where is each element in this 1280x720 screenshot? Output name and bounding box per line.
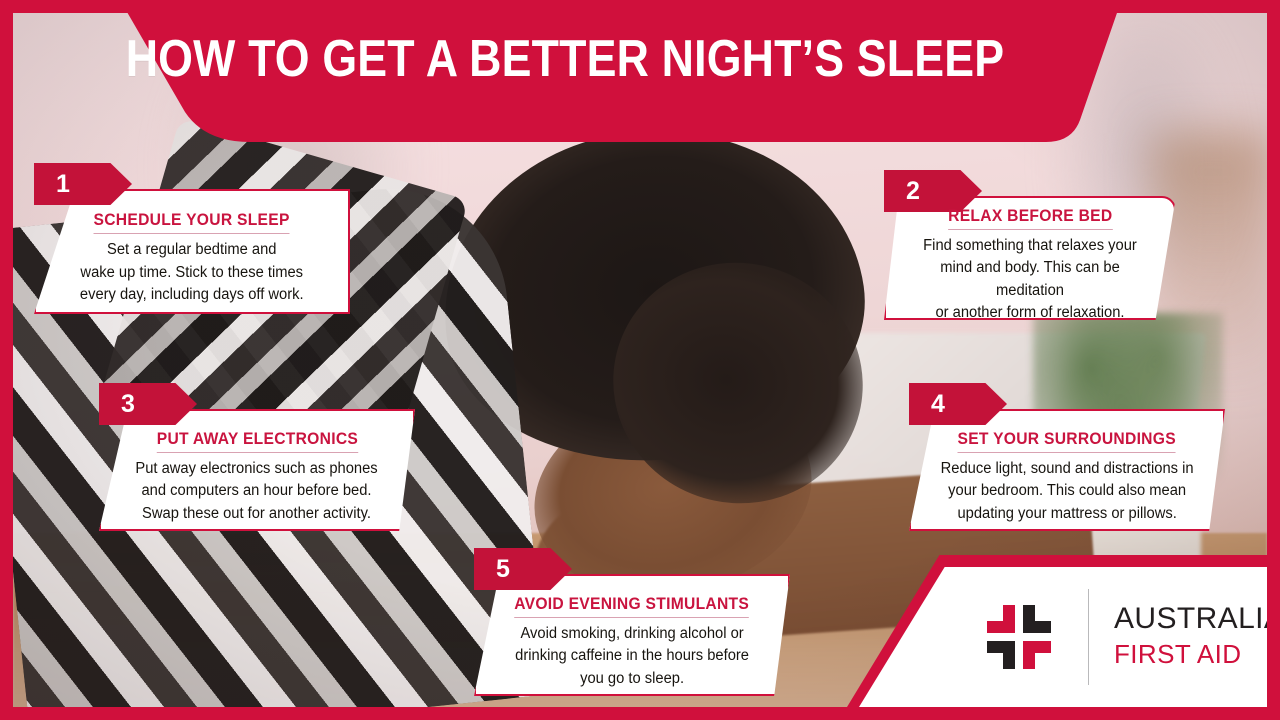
tip-card-1-body: SCHEDULE YOUR SLEEP Set a regular bedtim… [34,189,350,314]
tip-card-5-text: Avoid smoking, drinking alcohol or drink… [515,623,749,690]
tip-card-5-text-line-2: drinking caffeine in the hours before [515,645,749,667]
tip-card-4-title: SET YOUR SURROUNDINGS [958,429,1176,453]
logo-line-primary: AUSTRALIAWIDE [1114,603,1280,635]
logo-wordmark: AUSTRALIAWIDE FIRST AID [1114,603,1280,670]
tip-card-4-text-line-1: Reduce light, sound and distractions in [941,458,1194,480]
tip-card-3-text-line-2: and computers an hour before bed. [136,480,378,502]
tip-card-1-text: Set a regular bedtime and wake up time. … [80,239,304,306]
australia-wide-first-aid-cross-logo-icon [975,593,1063,681]
tip-card-5-text-line-3: you go to sleep. [515,668,749,690]
tip-card-5-title: AVOID EVENING STIMULANTS [515,594,750,618]
logo-divider [1088,589,1089,685]
tip-card-4: 4 SET YOUR SURROUNDINGS Reduce light, so… [909,409,1225,531]
tip-card-1-text-line-2: wake up time. Stick to these times [80,262,304,284]
tip-card-2-body: RELAX BEFORE BED Find something that rel… [884,196,1176,320]
tip-card-3-text-line-3: Swap these out for another activity. [136,503,378,525]
frame-bottom [0,707,1280,720]
tip-card-1: 1 SCHEDULE YOUR SLEEP Set a regular bedt… [34,189,350,314]
tip-card-1-text-line-1: Set a regular bedtime and [80,239,304,261]
tip-card-3-text: Put away electronics such as phones and … [136,458,378,525]
tip-card-5-text-line-1: Avoid smoking, drinking alcohol or [515,623,749,645]
tip-card-3-body: PUT AWAY ELECTRONICS Put away electronic… [99,409,415,531]
tip-card-2-text-line-3: or another form of relaxation. [907,302,1154,324]
tip-card-5-body: AVOID EVENING STIMULANTS Avoid smoking, … [474,574,790,696]
tip-card-4-text-line-2: your bedroom. This could also mean [941,480,1194,502]
tip-card-2: 2 RELAX BEFORE BED Find something that r… [884,196,1176,320]
infographic-canvas: HOW TO GET A BETTER NIGHT’S SLEEP 1 SCHE… [0,0,1280,720]
page-title: HOW TO GET A BETTER NIGHT’S SLEEP [79,0,1051,118]
tip-card-4-body: SET YOUR SURROUNDINGS Reduce light, soun… [909,409,1225,531]
logo-text-australia: AUSTRALIA [1114,602,1280,635]
tip-card-4-text-line-3: updating your mattress or pillows. [941,503,1194,525]
tip-card-2-text: Find something that relaxes your mind an… [907,235,1154,325]
tip-card-3: 3 PUT AWAY ELECTRONICS Put away electron… [99,409,415,531]
tip-card-3-text-line-1: Put away electronics such as phones [136,458,378,480]
tip-card-4-text: Reduce light, sound and distractions in … [941,458,1194,525]
tip-card-5: 5 AVOID EVENING STIMULANTS Avoid smoking… [474,574,790,696]
tip-card-1-text-line-3: every day, including days off work. [80,284,304,306]
frame-left [0,0,13,720]
tip-card-1-title: SCHEDULE YOUR SLEEP [94,210,290,234]
tip-card-3-title: PUT AWAY ELECTRONICS [156,429,357,453]
tip-card-2-text-line-1: Find something that relaxes your [907,235,1154,257]
tip-card-2-title: RELAX BEFORE BED [948,206,1112,230]
tip-card-2-text-line-2: mind and body. This can be meditation [907,257,1154,302]
frame-right [1267,0,1280,720]
logo-text-first-aid: FIRST AID [1114,639,1280,670]
